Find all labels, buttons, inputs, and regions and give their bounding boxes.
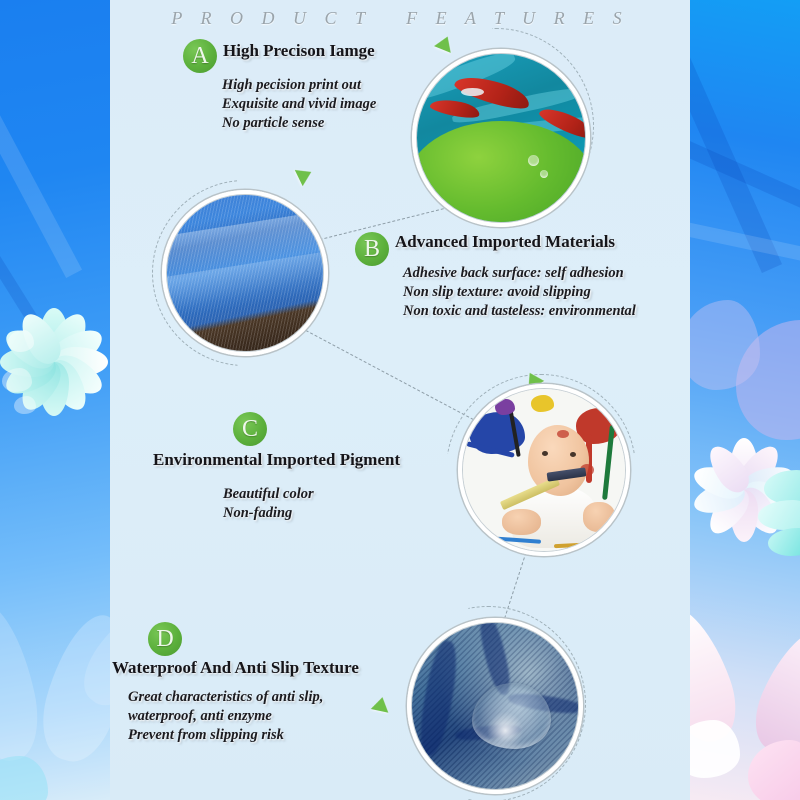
right-decorative-border xyxy=(690,0,800,800)
splat-purple xyxy=(495,399,514,415)
bullets-b: Adhesive back surface: self adhesion Non… xyxy=(403,264,636,321)
page-title: P R O D U C T F E A T U R E S xyxy=(110,8,690,29)
photo-d-image xyxy=(412,623,578,789)
baby-arm-left xyxy=(502,509,541,535)
photo-b-image xyxy=(167,195,323,351)
bullets-d: Great characteristics of anti slip, wate… xyxy=(128,688,323,745)
right-lavender-blob-2 xyxy=(690,300,760,390)
lily-pad xyxy=(417,121,585,222)
left-flower-swirl-2 xyxy=(2,368,32,392)
photo-b-blue-fabric xyxy=(162,190,328,356)
photo-a-image xyxy=(417,54,585,222)
left-flower-swirl-3 xyxy=(14,396,36,414)
arrow-to-b xyxy=(295,164,315,186)
baby-eye-left xyxy=(542,451,548,456)
water-bead-2 xyxy=(540,170,548,178)
badge-a: A xyxy=(183,39,217,73)
badge-b: B xyxy=(355,232,389,266)
splat-yellow xyxy=(531,395,554,411)
product-features-poster: P R O D U C T F E A T U R E S A High Pre… xyxy=(0,0,800,800)
photo-c-baby-painting xyxy=(458,384,630,556)
heading-c: Environmental Imported Pigment xyxy=(153,450,400,470)
heading-d: Waterproof And Anti Slip Texture xyxy=(112,658,359,678)
arrow-to-a xyxy=(434,33,456,53)
bullets-a: High pecision print out Exquisite and vi… xyxy=(222,76,376,133)
connector-b-to-c xyxy=(306,330,483,425)
koi-fish-1-highlight xyxy=(461,88,485,96)
photo-a-koi-pond xyxy=(412,49,590,227)
photo-d-water-droplet xyxy=(407,618,583,794)
left-flower-swirl-1 xyxy=(8,330,34,352)
baby-forehead-paint xyxy=(557,430,569,438)
water-droplet xyxy=(472,683,552,749)
badge-c: C xyxy=(233,412,267,446)
left-decorative-border xyxy=(0,0,110,800)
heading-a: High Precison Iamge xyxy=(223,41,375,61)
photo-c-image xyxy=(463,389,625,551)
baby-arm-right xyxy=(583,502,615,531)
heading-b: Advanced Imported Materials xyxy=(395,232,615,252)
bullets-c: Beautiful color Non-fading xyxy=(223,485,314,523)
water-bead-1 xyxy=(528,155,539,166)
arrow-to-d xyxy=(371,695,392,712)
main-content-panel: P R O D U C T F E A T U R E S A High Pre… xyxy=(110,0,690,800)
badge-d: D xyxy=(148,622,182,656)
